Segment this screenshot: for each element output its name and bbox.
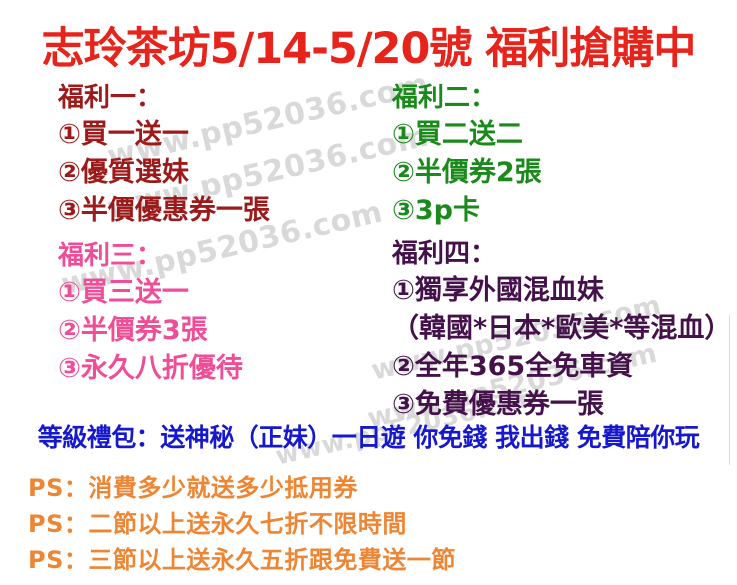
benefit-three-heading: 福利三：	[58, 238, 243, 274]
benefit-three-item-1: ①買三送一	[58, 274, 243, 312]
benefit-two-item-3: ③3p卡	[392, 192, 542, 230]
poster-content: 志玲茶坊5/14-5/20號 福利搶購中 福利一： ①買一送一 ②優質選妹 ③半…	[0, 0, 737, 585]
ps-note-1: PS：消費多少就送多少抵用券	[28, 470, 456, 506]
benefit-three-item-3: ③永久八折優待	[58, 350, 243, 388]
benefit-one-item-1: ①買一送一	[58, 116, 270, 154]
benefit-block-one: 福利一： ①買一送一 ②優質選妹 ③半價優惠券一張	[58, 80, 270, 230]
benefit-one-item-3: ③半價優惠券一張	[58, 192, 270, 230]
benefit-two-item-1: ①買二送二	[392, 116, 542, 154]
benefit-four-heading: 福利四：	[392, 236, 731, 272]
benefit-two-item-2: ②半價券2張	[392, 154, 542, 192]
tier-gift-banner: 等級禮包：送神秘（正妹）一日遊 你免錢 我出錢 免費陪你玩	[0, 418, 737, 454]
benefit-block-four: 福利四： ①獨享外國混血妹 （韓國*日本*歐美*等混血） ②全年365全免車資 …	[392, 236, 731, 424]
benefit-four-item-1-detail: （韓國*日本*歐美*等混血）	[392, 310, 731, 348]
benefit-two-heading: 福利二：	[392, 80, 542, 116]
benefit-three-item-2: ②半價券3張	[58, 312, 243, 350]
ps-note-3: PS：三節以上送永久五折跟免費送一節	[28, 542, 456, 578]
benefit-block-three: 福利三： ①買三送一 ②半價券3張 ③永久八折優待	[58, 238, 243, 388]
poster-title: 志玲茶坊5/14-5/20號 福利搶購中	[0, 14, 737, 76]
benefit-block-two: 福利二： ①買二送二 ②半價券2張 ③3p卡	[392, 80, 542, 230]
benefit-four-item-2: ②全年365全免車資	[392, 348, 731, 386]
benefit-four-item-1: ①獨享外國混血妹	[392, 272, 731, 310]
benefit-one-item-2: ②優質選妹	[58, 154, 270, 192]
ps-notes-list: PS：消費多少就送多少抵用券 PS：二節以上送永久七折不限時間 PS：三節以上送…	[28, 470, 456, 578]
benefit-one-heading: 福利一：	[58, 80, 270, 116]
promo-poster: www.pp52036.com www.pp52036.com www.pp52…	[0, 0, 737, 585]
ps-note-2: PS：二節以上送永久七折不限時間	[28, 506, 456, 542]
